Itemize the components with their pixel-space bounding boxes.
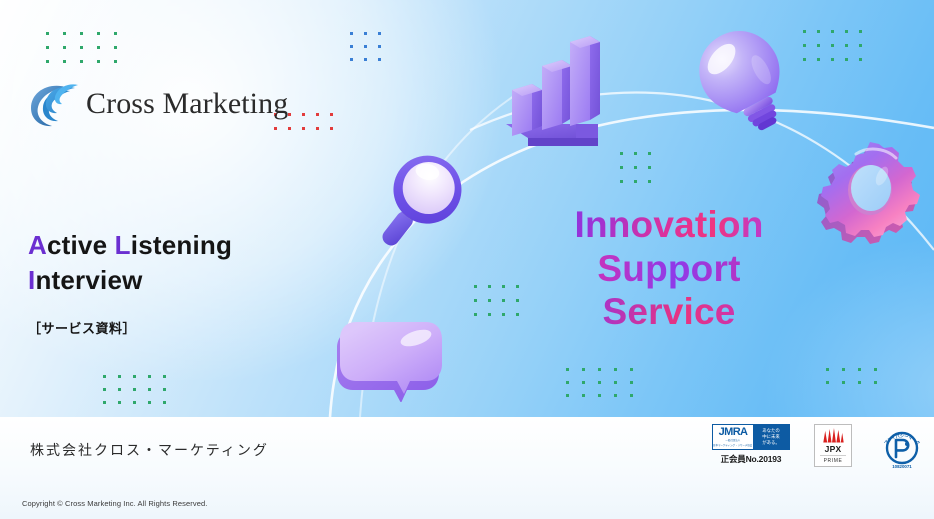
- brand-logo-text: Cross Marketing: [86, 87, 288, 121]
- magnifier-3d-icon: [358, 148, 476, 258]
- jmra-tagline-line3: がある。: [762, 440, 780, 446]
- certification-logos: JMRA 一般社団法人 日本マーケティング・リサーチ協会 あなたの 中に未来 が…: [712, 424, 928, 475]
- title-line-1: Active Listening: [28, 228, 232, 263]
- hero-background: Cross Marketing Active Listening Intervi…: [0, 0, 934, 417]
- title-rest-3: nterview: [35, 265, 142, 295]
- jpx-logo-box: JPX PRIME: [814, 424, 852, 467]
- headline-line-2: Support: [530, 247, 808, 291]
- jmra-certification: JMRA 一般社団法人 日本マーケティング・リサーチ協会 あなたの 中に未来 が…: [712, 424, 790, 465]
- jmra-logo-text: JMRA: [719, 427, 748, 438]
- lightbulb-3d-icon: [688, 24, 800, 142]
- jmra-logo-box: JMRA 一般社団法人 日本マーケティング・リサーチ協会 あなたの 中に未来 が…: [712, 424, 790, 450]
- title-rest-1: ctive: [47, 230, 115, 260]
- gear-3d-icon: [812, 134, 928, 250]
- jpx-market-text: PRIME: [820, 455, 846, 464]
- privacy-mark-number: 10820071: [892, 464, 912, 469]
- speech-bubble-3d-icon: [334, 306, 452, 402]
- footer-company-name: 株式会社クロス・マーケティング: [30, 440, 269, 460]
- swoosh-wave-icon: [26, 78, 80, 130]
- jmra-logo-sub1: 一般社団法人: [726, 439, 741, 442]
- jmra-tagline: あなたの 中に未来 がある。: [753, 425, 789, 449]
- jpx-certification: JPX PRIME: [814, 424, 852, 467]
- headline-line-1: Innovation: [530, 203, 808, 247]
- brand-logo: Cross Marketing: [26, 78, 288, 130]
- headline-line-3: Service: [530, 290, 808, 334]
- privacy-mark-icon: プライバシーマーク 10820071: [876, 424, 928, 470]
- page-title: Active Listening Interview: [28, 228, 232, 297]
- title-slide: Cross Marketing Active Listening Intervi…: [0, 0, 934, 519]
- jmra-logo-left: JMRA 一般社団法人 日本マーケティング・リサーチ協会: [713, 425, 753, 449]
- jmra-logo-sub2: 日本マーケティング・リサーチ協会: [713, 444, 752, 447]
- jpx-logo-text: JPX: [825, 445, 842, 454]
- title-rest-2: istening: [131, 230, 232, 260]
- jpx-mark-icon: [821, 427, 845, 444]
- headline-block: Innovation Support Service: [530, 203, 808, 334]
- privacy-mark-certification: プライバシーマーク 10820071: [876, 424, 928, 475]
- jmra-member-number: 正会員No.20193: [712, 453, 790, 465]
- bar-chart-3d-icon: [498, 28, 628, 150]
- title-cap-l: L: [115, 230, 131, 260]
- footer-copyright: Copyright © Cross Marketing Inc. All Rig…: [22, 499, 207, 508]
- subtitle-label: ［サービス資料］: [28, 318, 136, 337]
- title-line-2: Interview: [28, 263, 232, 298]
- title-cap-a: A: [28, 230, 47, 260]
